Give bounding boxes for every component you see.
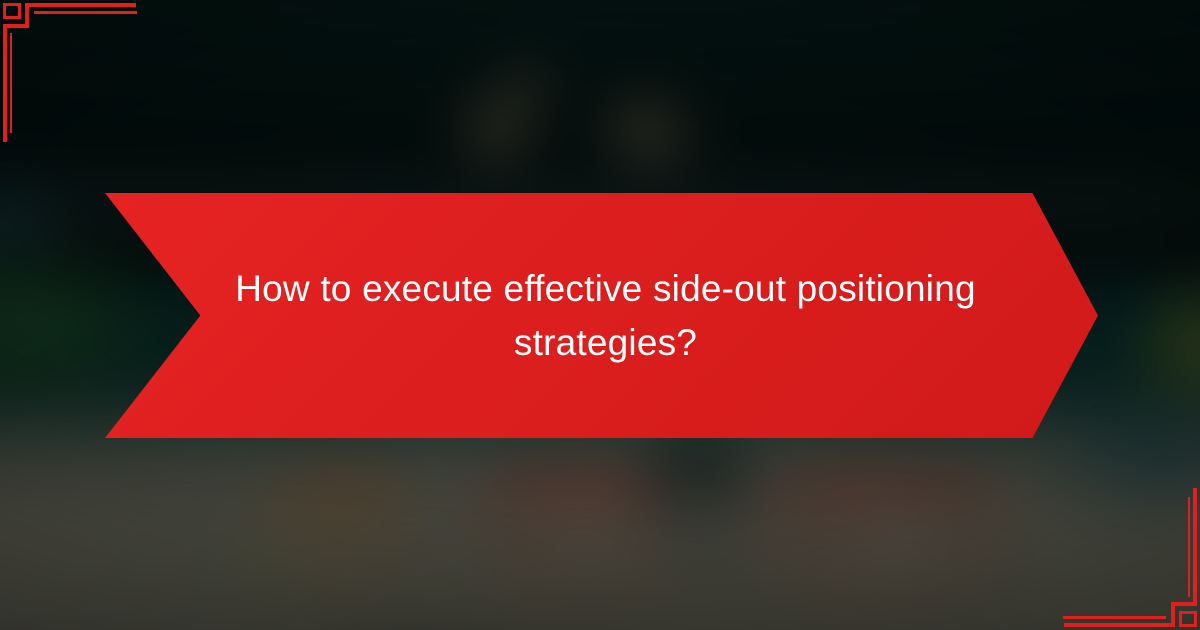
corner-rule-horizontal: [28, 3, 136, 7]
corner-rule-vertical-stub: [1171, 603, 1175, 627]
corner-rule-horizontal: [1064, 623, 1172, 627]
corner-rule-horizontal-thin: [34, 11, 137, 14]
headline-banner: How to execute effective side-out positi…: [105, 193, 1098, 438]
page-title: How to execute effective side-out positi…: [211, 262, 1001, 369]
corner-square-icon: [1179, 611, 1197, 627]
corner-rule-horizontal-thin: [1063, 616, 1166, 619]
corner-bracket-top-left-icon: [0, 0, 160, 160]
poster-canvas: How to execute effective side-out positi…: [0, 0, 1200, 630]
corner-bracket-bottom-right-icon: [1040, 470, 1200, 630]
corner-rule-vertical-long: [1193, 488, 1197, 606]
corner-square-icon: [3, 3, 21, 19]
corner-rule-vertical-thin: [1188, 497, 1190, 597]
corner-rule-vertical-long: [3, 24, 7, 142]
corner-rule-vertical-thin: [10, 33, 12, 133]
